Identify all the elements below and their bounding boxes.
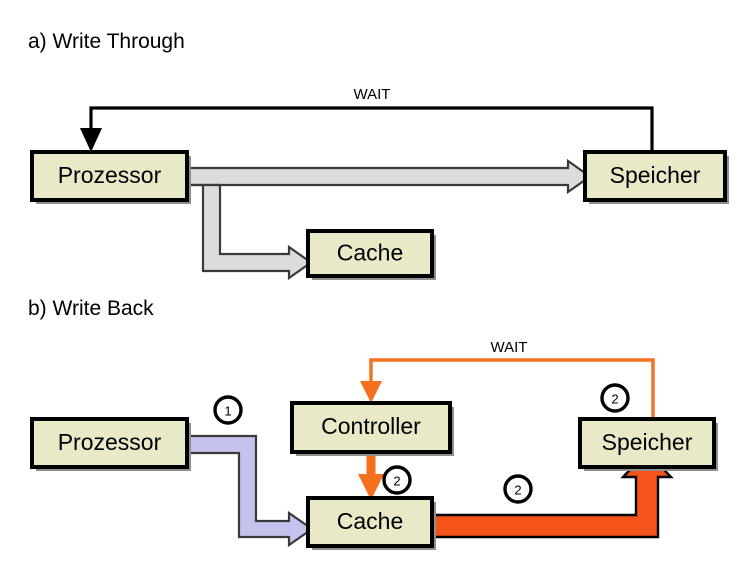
node-label-speicher-b: Speicher: [602, 429, 693, 455]
node-prozessor-b[interactable]: Prozessor: [32, 419, 191, 471]
step-marker-1: 1: [215, 397, 241, 423]
node-label-prozessor-b: Prozessor: [58, 429, 162, 455]
node-controller-b[interactable]: Controller: [292, 403, 454, 456]
node-speicher-a[interactable]: Speicher: [585, 152, 729, 204]
node-label-cache-b: Cache: [337, 508, 403, 534]
wait-label-b: WAIT: [491, 339, 528, 356]
step-marker-1-label: 1: [224, 404, 231, 419]
step-marker-2c: 2: [505, 476, 531, 502]
cache-write-policy-diagram: a) Write Through WAIT Prozessor: [0, 0, 751, 580]
node-speicher-b[interactable]: Speicher: [580, 419, 718, 471]
node-label-cache-a: Cache: [337, 240, 403, 266]
section-write-back: b) Write Back WAIT: [28, 297, 718, 550]
step-marker-2a: 2: [602, 385, 628, 411]
wait-connector-a: WAIT: [80, 86, 652, 152]
diagram-root: a) Write Through WAIT Prozessor: [0, 0, 751, 580]
node-label-speicher-a: Speicher: [610, 162, 701, 188]
section-title-write-through: a) Write Through: [28, 30, 185, 53]
node-cache-a[interactable]: Cache: [308, 231, 436, 280]
section-title-write-back: b) Write Back: [28, 297, 154, 320]
gray-arrow-prozessor-to-cache: [187, 185, 311, 278]
step-marker-2b: 2: [384, 467, 410, 493]
orange-arrow-controller-to-cache: [358, 452, 384, 500]
step-marker-2c-label: 2: [514, 483, 521, 498]
node-label-controller-b: Controller: [321, 413, 421, 439]
node-label-prozessor-a: Prozessor: [58, 162, 162, 188]
node-prozessor-a[interactable]: Prozessor: [32, 152, 191, 204]
step-marker-2a-label: 2: [611, 392, 618, 407]
node-cache-b[interactable]: Cache: [308, 498, 436, 550]
step-marker-2b-label: 2: [393, 474, 400, 489]
section-write-through: a) Write Through WAIT Prozessor: [28, 30, 729, 280]
wait-label-a: WAIT: [354, 86, 391, 103]
gray-arrow-prozessor-to-speicher: [187, 161, 590, 192]
